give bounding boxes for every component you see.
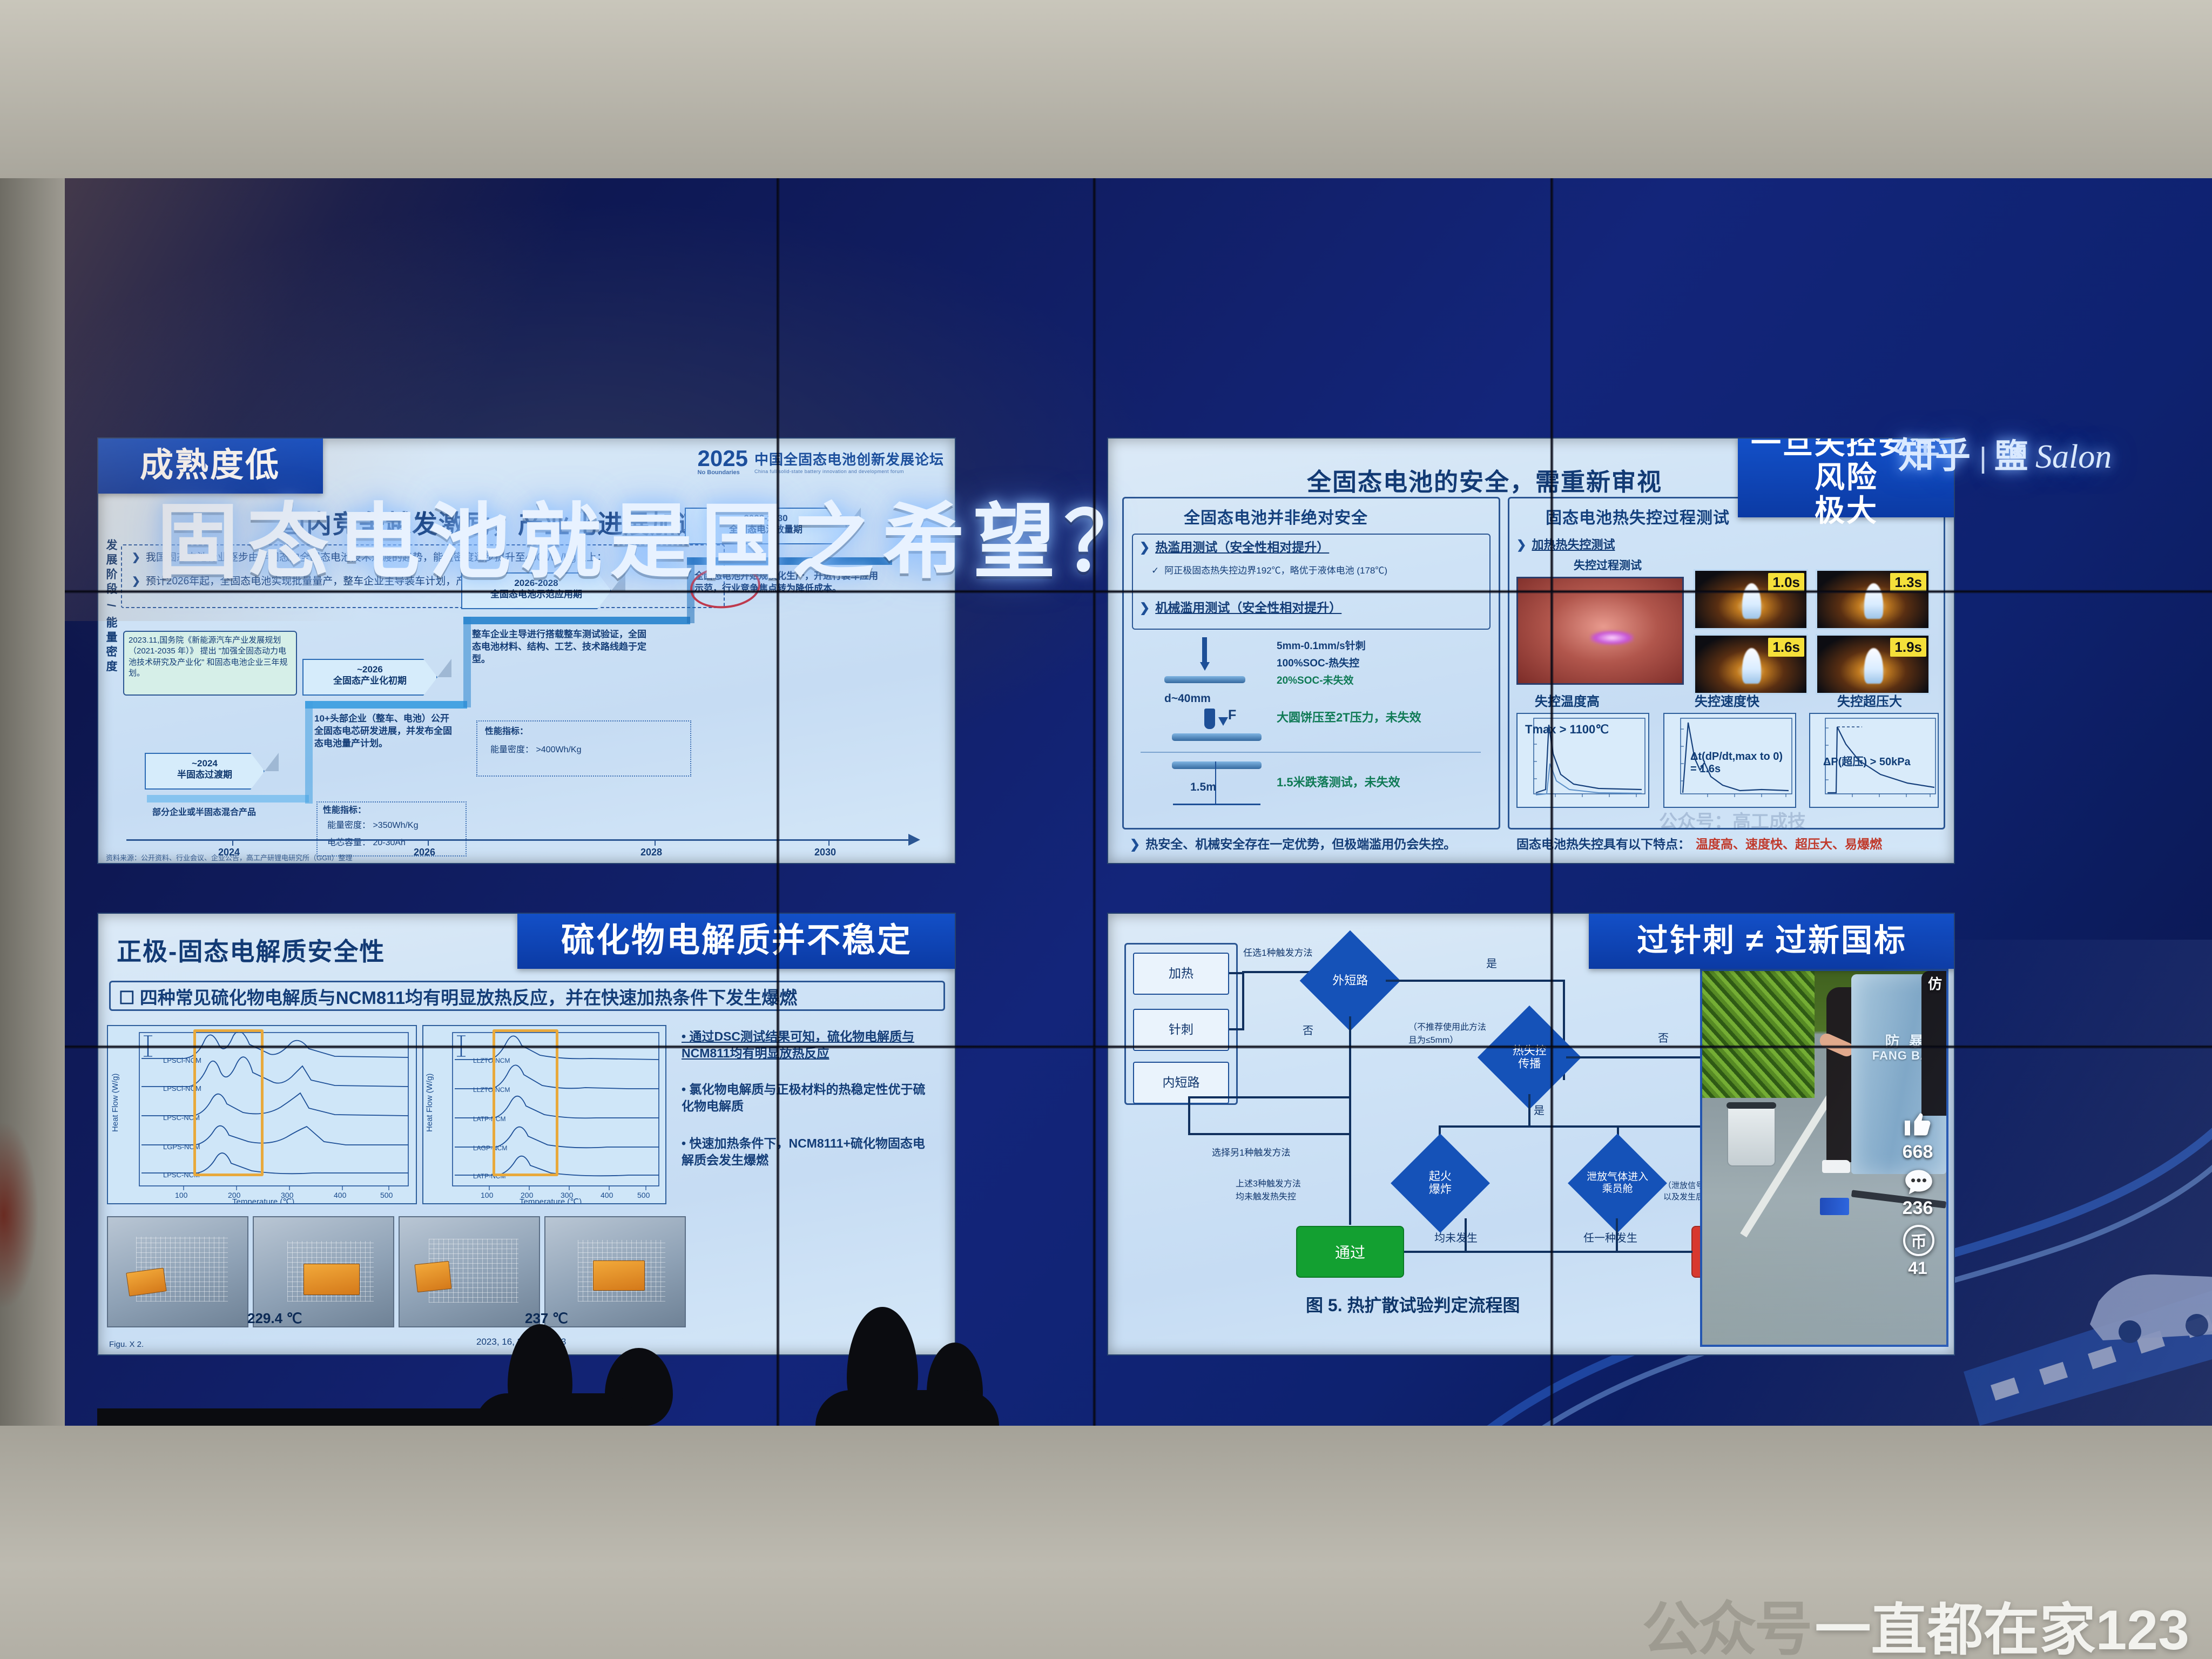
flame-plume-shape: [1864, 583, 1883, 619]
flowchart-line-input-2: [1229, 1028, 1243, 1030]
press-force-arrow-icon: [1218, 717, 1228, 726]
flowchart-line-input-bus: [1242, 972, 1244, 1030]
bucket-rim: [1727, 1102, 1777, 1109]
press-ram-shape: [1204, 709, 1215, 729]
photo-tile-1: [107, 1216, 248, 1327]
cell-plate-press: [1172, 733, 1262, 741]
audience-mask-strip: [97, 1408, 637, 1426]
minichart-temperature-annotation: Tmax > 1100℃: [1525, 723, 1609, 737]
dsc-highlight-box: [193, 1029, 264, 1176]
timeline-tick-1: [232, 839, 233, 846]
minichart-temperature: Tmax > 1100℃: [1516, 713, 1649, 808]
timeline-riser-1: [305, 701, 313, 804]
conference-name: 中国全固态电池创新发展论坛 China full solid-state bat…: [754, 449, 944, 474]
test-spec-soc20: 20%SOC-未失效: [1277, 674, 1354, 688]
timeline-axis-arrow: [908, 834, 920, 846]
svg-text:Heat Flow (W/g): Heat Flow (W/g): [111, 1074, 120, 1132]
flowchart-line-alt-back-v: [1188, 1096, 1190, 1135]
flame-plume-shape: [1742, 648, 1761, 684]
runaway-frame-2: 1.3s: [1816, 569, 1930, 630]
runaway-frame-4: 1.9s: [1816, 634, 1930, 694]
cell-plate-drop: [1172, 761, 1262, 769]
mechanical-test-title-row: ❯ 机械滥用测试（安全性相对提升）: [1139, 599, 1341, 616]
stage-note-1: 部分企业或半固态混合产品: [151, 807, 257, 819]
drop-height-label: 1.5m: [1190, 780, 1216, 795]
minichart-pressure: ΔP(超压) > 50kPa: [1809, 713, 1939, 808]
watermark-ghost-text: 公众号: [1642, 1582, 1810, 1659]
slide-panel-safety[interactable]: 一旦失控安全风险 极大 全固态电池的安全，需重新审视 全固态电池并非绝对安全 ❯…: [1107, 437, 1955, 864]
photo-temp-label-2: 237 ℃: [525, 1310, 568, 1327]
white-bucket: [1727, 1105, 1776, 1166]
logo-salon-text: Salon: [2035, 438, 2112, 476]
source-note: 资料来源：公开资料、行业会议、企业公告，高工产研锂电研究所（GGII）整理: [106, 853, 352, 863]
bezel-vertical-2: [1092, 178, 1096, 1426]
minichart-rate-annotation: Δt(dP/dt,max to 0) = 1.6s: [1690, 751, 1783, 775]
video-wall-display[interactable]: 固态电池就是国之希望？ 知乎 | 鹽 Salon 成熟度低 2025 No Bo…: [65, 178, 2212, 1426]
flowchart-line-split: [1439, 1125, 1739, 1128]
spec-box-1-title: 性能指标：: [323, 805, 366, 817]
screenshot-watermark: 公众号 一直都在家123: [1642, 1582, 2189, 1659]
flowchart-line-pass-in: [1349, 1096, 1351, 1225]
flame-plume-shape: [1864, 648, 1883, 684]
flowchart-line-alt-back-h: [1188, 1096, 1350, 1098]
timeline-stage-chip-2: ~2026 全固态产业化初期: [302, 659, 437, 696]
frame-timestamp: 1.6s: [1768, 638, 1804, 657]
callout-text-sulfide: ☐ 四种常见硫化物电解质与NCM811均有明显放热反应，并在快速加热条件下发生爆…: [119, 986, 797, 1010]
svg-text:500: 500: [637, 1191, 650, 1199]
flowchart-label-yes-1: 是: [1486, 955, 1497, 970]
svg-text:Temperature (℃): Temperature (℃): [232, 1197, 294, 1204]
page-title: 固态电池就是国之希望？: [157, 475, 1155, 594]
stage-note-3: 整车企业主导进行搭载整车测试验证，全固态电池材料、结构、工艺、技术路线趋于定型。: [472, 629, 655, 666]
timeline-step-bar-1: [147, 795, 309, 802]
flowchart-input-label: 任选1种触发方法: [1243, 945, 1312, 959]
flowchart-decision-fire: 起火 爆炸: [1391, 1134, 1490, 1233]
chevron-right-icon: ❯: [132, 551, 140, 565]
flowchart-label-no-2: 否: [1658, 1029, 1669, 1045]
chevron-right-icon: ❯: [1139, 599, 1150, 616]
thermal-test-note-row: ✓ 阿正极固态热失控边界192℃，略优于液体电池 (178℃): [1151, 565, 1387, 577]
bullet-dsc-2: • 氯化物电解质与正极材料的热稳定性优于硫化物电解质: [682, 1081, 936, 1115]
spec-box-2-item-1: 能量密度： >400Wh/Kg: [490, 744, 582, 756]
flowchart-line-d2-yes: [1528, 1094, 1530, 1127]
timeline-tick-2: [428, 839, 429, 846]
checkbox-square-icon: ☐: [119, 988, 135, 1008]
runaway-frame-1: 1.0s: [1694, 569, 1808, 630]
flowchart-label-fail-cond: 任一种发生: [1583, 1229, 1637, 1245]
divider-line-illustrations: [1141, 752, 1481, 753]
wall-above-screen: [0, 0, 2212, 178]
timeline-tick-label-2026: 2026: [414, 847, 435, 858]
runaway-process-label: 失控过程测试: [1574, 558, 1642, 574]
spec-box-2-title: 性能指标：: [485, 726, 528, 738]
flowchart-line-d3-out: [1465, 1218, 1467, 1252]
brand-logo: 知乎 | 鹽 Salon: [1898, 427, 2112, 478]
flowchart-result-pass: 通过: [1296, 1226, 1404, 1278]
photo-temp-label-1: 229.4 ℃: [247, 1310, 302, 1327]
minichart-caption-2: 失控速度快: [1695, 693, 1759, 711]
flowchart-line-d1-no: [1349, 1016, 1351, 1096]
svg-text:100: 100: [175, 1191, 188, 1199]
timeline-axis: [126, 839, 909, 841]
bezel-vertical-1: [776, 178, 780, 1426]
thermal-test-title-row: ❯ 热滥用测试（安全性相对提升）: [1139, 539, 1329, 556]
dsc-chart-left: 100200 300400 500 LPSCl-NCMLPSCl-NCM LPS…: [107, 1025, 417, 1204]
chevron-right-icon: ❯: [1516, 537, 1526, 553]
photo-tile-3: [399, 1216, 540, 1327]
needle-probe-shape: [1202, 637, 1207, 663]
blue-device: [1820, 1198, 1849, 1215]
subheading-not-absolutely-safe: 全固态电池并非绝对安全: [1184, 504, 1368, 528]
flowchart-line-alt-back-h2: [1188, 1133, 1350, 1135]
minichart-caption-1: 失控温度高: [1535, 693, 1600, 711]
flowchart-alt-label: 选择另1种触发方法: [1212, 1145, 1290, 1158]
bezel-horizontal-2: [65, 1045, 2212, 1049]
thumbs-up-icon[interactable]: [1902, 1107, 1934, 1139]
timeline-tick-label-2030: 2030: [814, 847, 836, 858]
dsc-highlight-box: [493, 1029, 558, 1176]
needle-arrow-icon: [1200, 662, 1210, 671]
svg-text:500: 500: [380, 1191, 393, 1199]
sample-chip: [414, 1261, 451, 1292]
sample-chip: [304, 1264, 360, 1295]
bullet-dot-icon: •: [682, 1082, 686, 1096]
svg-text:100: 100: [481, 1191, 494, 1199]
conference-mark: 2025 No Boundaries 中国全固态电池创新发展论坛 China f…: [698, 447, 944, 476]
test-spec-soc100: 100%SOC-热失控: [1277, 657, 1359, 671]
bullet-dot-icon: •: [682, 1029, 686, 1043]
watermark-username: 一直都在家123: [1815, 1584, 2189, 1659]
left-conclusion-row: ❯ 热安全、机械安全存在一定优势，但极端滥用仍会失控。: [1130, 836, 1456, 853]
axis-label-vertical: 发展阶段 / 能量密度: [103, 539, 119, 744]
frame-timestamp: 1.0s: [1768, 573, 1804, 592]
timeline-tick-3: [655, 839, 656, 846]
flowchart-line-results-bus: [1404, 1251, 1692, 1253]
press-result-label: 大圆饼压至2T压力，未失效: [1277, 710, 1421, 726]
frame-timestamp: 1.9s: [1890, 638, 1926, 657]
minichart-caption-3: 失控超压大: [1837, 693, 1902, 711]
status-badge-sulfide-unstable: 硫化物电解质并不稳定: [517, 913, 956, 969]
figure-note-text: Figu. X 2.: [109, 1339, 144, 1350]
conference-year: 2025 No Boundaries: [698, 447, 748, 476]
spec-box-1-item-1: 能量密度： >350Wh/Kg: [327, 820, 419, 832]
flowchart-line-d1-yes: [1386, 980, 1565, 982]
svg-text:Heat Flow (W/g): Heat Flow (W/g): [425, 1074, 434, 1132]
sample-chip: [593, 1260, 645, 1291]
comment-bubble-icon[interactable]: [1903, 1169, 1934, 1197]
flowchart-line-to-decision-1: [1242, 971, 1314, 973]
frame-timestamp: 1.3s: [1890, 573, 1926, 592]
runaway-frame-3: 1.6s: [1694, 634, 1808, 694]
spark-flash: [1590, 631, 1634, 645]
timeline-stage-chip-1: ~2024 半固态过渡期: [145, 753, 265, 790]
timeline-tick-4: [828, 839, 829, 846]
comment-count: 236: [1899, 1198, 1937, 1219]
timeline-step-bar-3: [463, 617, 690, 624]
chevron-right-icon: ❯: [1130, 836, 1140, 853]
bezel-vertical-3: [1550, 178, 1554, 1426]
slide-watermark: 公众号：高工成技: [1659, 807, 1806, 833]
timeline-triangle-1: [265, 753, 279, 771]
subheading-runaway-test: 固态电池热失控过程测试: [1546, 504, 1730, 528]
panel-heading-safety: 全固态电池的安全，需重新审视: [1307, 462, 1662, 497]
bezel-horizontal-1: [65, 590, 2212, 594]
logo-salt-char: 鹽: [1994, 429, 2028, 477]
right-conclusion-keys: 温度高、速度快、超压大、易爆燃: [1696, 836, 1882, 853]
timeline-tick-label-2028: 2028: [640, 847, 662, 858]
logo-zhihu-text: 知乎: [1898, 427, 1972, 478]
timeline-step-bar-2: [305, 701, 467, 709]
flowchart-label-yes-2: 是: [1534, 1102, 1545, 1117]
hedge-background: [1702, 971, 1815, 1105]
svg-text:Temperature (℃): Temperature (℃): [520, 1197, 582, 1204]
heat-runaway-test-title-row: ❯ 加热热失控测试: [1516, 537, 1615, 553]
video-corner-text: 仿: [1928, 973, 1942, 993]
wall-reflection-blob: [0, 1123, 38, 1307]
policy-note-text: 2023.11,国务院《新能源汽车产业发展规划（2021-2035 年）》 提出…: [129, 635, 293, 679]
cell-plate-needle: [1164, 676, 1245, 683]
flowchart-caption: 图 5. 热扩散试验判定流程图: [1306, 1292, 1520, 1317]
svg-text:400: 400: [601, 1191, 613, 1199]
stage-note-2: 10+头部企业（整车、电池）公开全固态电芯研发进展，并发布全固态电池量产计划。: [314, 713, 454, 750]
logo-divider: |: [1979, 441, 1987, 475]
flowchart-input-heating: 加热: [1133, 953, 1229, 995]
coin-gift-icon[interactable]: 币: [1903, 1225, 1934, 1256]
bullet-dot-icon: •: [682, 1136, 686, 1150]
test-spec-needle: 5mm-0.1mm/s针刺: [1277, 639, 1366, 653]
slide-panel-thermal-diffusion[interactable]: 过针刺 ≠ 过新国标 加热 针刺 内短路 任选1种触发方法 外短路 是 否 （不…: [1107, 913, 1955, 1355]
press-force-label: F: [1228, 706, 1236, 725]
timeline-riser-2: [463, 617, 471, 707]
flowchart-label-pass-cond: 均未发生: [1434, 1229, 1478, 1245]
drop-result-label: 1.5米跌落测试，未失效: [1277, 774, 1400, 791]
timeline-triangle-2: [437, 659, 451, 677]
audience-shoulders-2: [815, 1390, 999, 1426]
chevron-right-icon: ❯: [132, 575, 140, 589]
person-shoe: [1822, 1160, 1850, 1173]
security-camera-video: 防 暴 FANG BAO 仿 668 236: [1700, 969, 1948, 1347]
drop-ground-line: [1173, 804, 1260, 805]
like-count: 668: [1899, 1142, 1937, 1163]
bullet-dsc-3: • 快速加热条件下，NCM8111+硫化物固态电解质会发生爆燃: [682, 1135, 936, 1169]
dsc-chart-right: 100200 300400500 LLZTO-NCMLLZTO-NCM LATP…: [422, 1025, 666, 1204]
press-diameter-label: d~40mm: [1164, 691, 1211, 706]
svg-text:400: 400: [334, 1191, 347, 1199]
coin-count: 41: [1899, 1258, 1937, 1278]
flowchart-line-input-1: [1229, 972, 1243, 974]
panel-heading-cathode: 正极-固态电解质安全性: [117, 932, 385, 968]
flowchart-line-d4-out: [1616, 1218, 1618, 1252]
flowchart-side-note-2: 上述3种触发方法 均未触发热失控: [1236, 1176, 1350, 1202]
flame-plume-shape: [1742, 583, 1761, 619]
right-conclusion-prefix: 固态电池热失控具有以下特点：: [1516, 836, 1690, 853]
minichart-rate: Δt(dP/dt,max to 0) = 1.6s: [1663, 713, 1796, 808]
slide-panel-electrolyte[interactable]: 正极-固态电解质安全性 硫化物电解质并不稳定 ☐ 四种常见硫化物电解质与NCM8…: [97, 913, 956, 1355]
minichart-pressure-annotation: ΔP(超压) > 50kPa: [1823, 753, 1911, 768]
status-badge-needle-vs-standard: 过针刺 ≠ 过新国标: [1589, 913, 1955, 969]
flowchart-label-no-1: 否: [1303, 1022, 1313, 1037]
